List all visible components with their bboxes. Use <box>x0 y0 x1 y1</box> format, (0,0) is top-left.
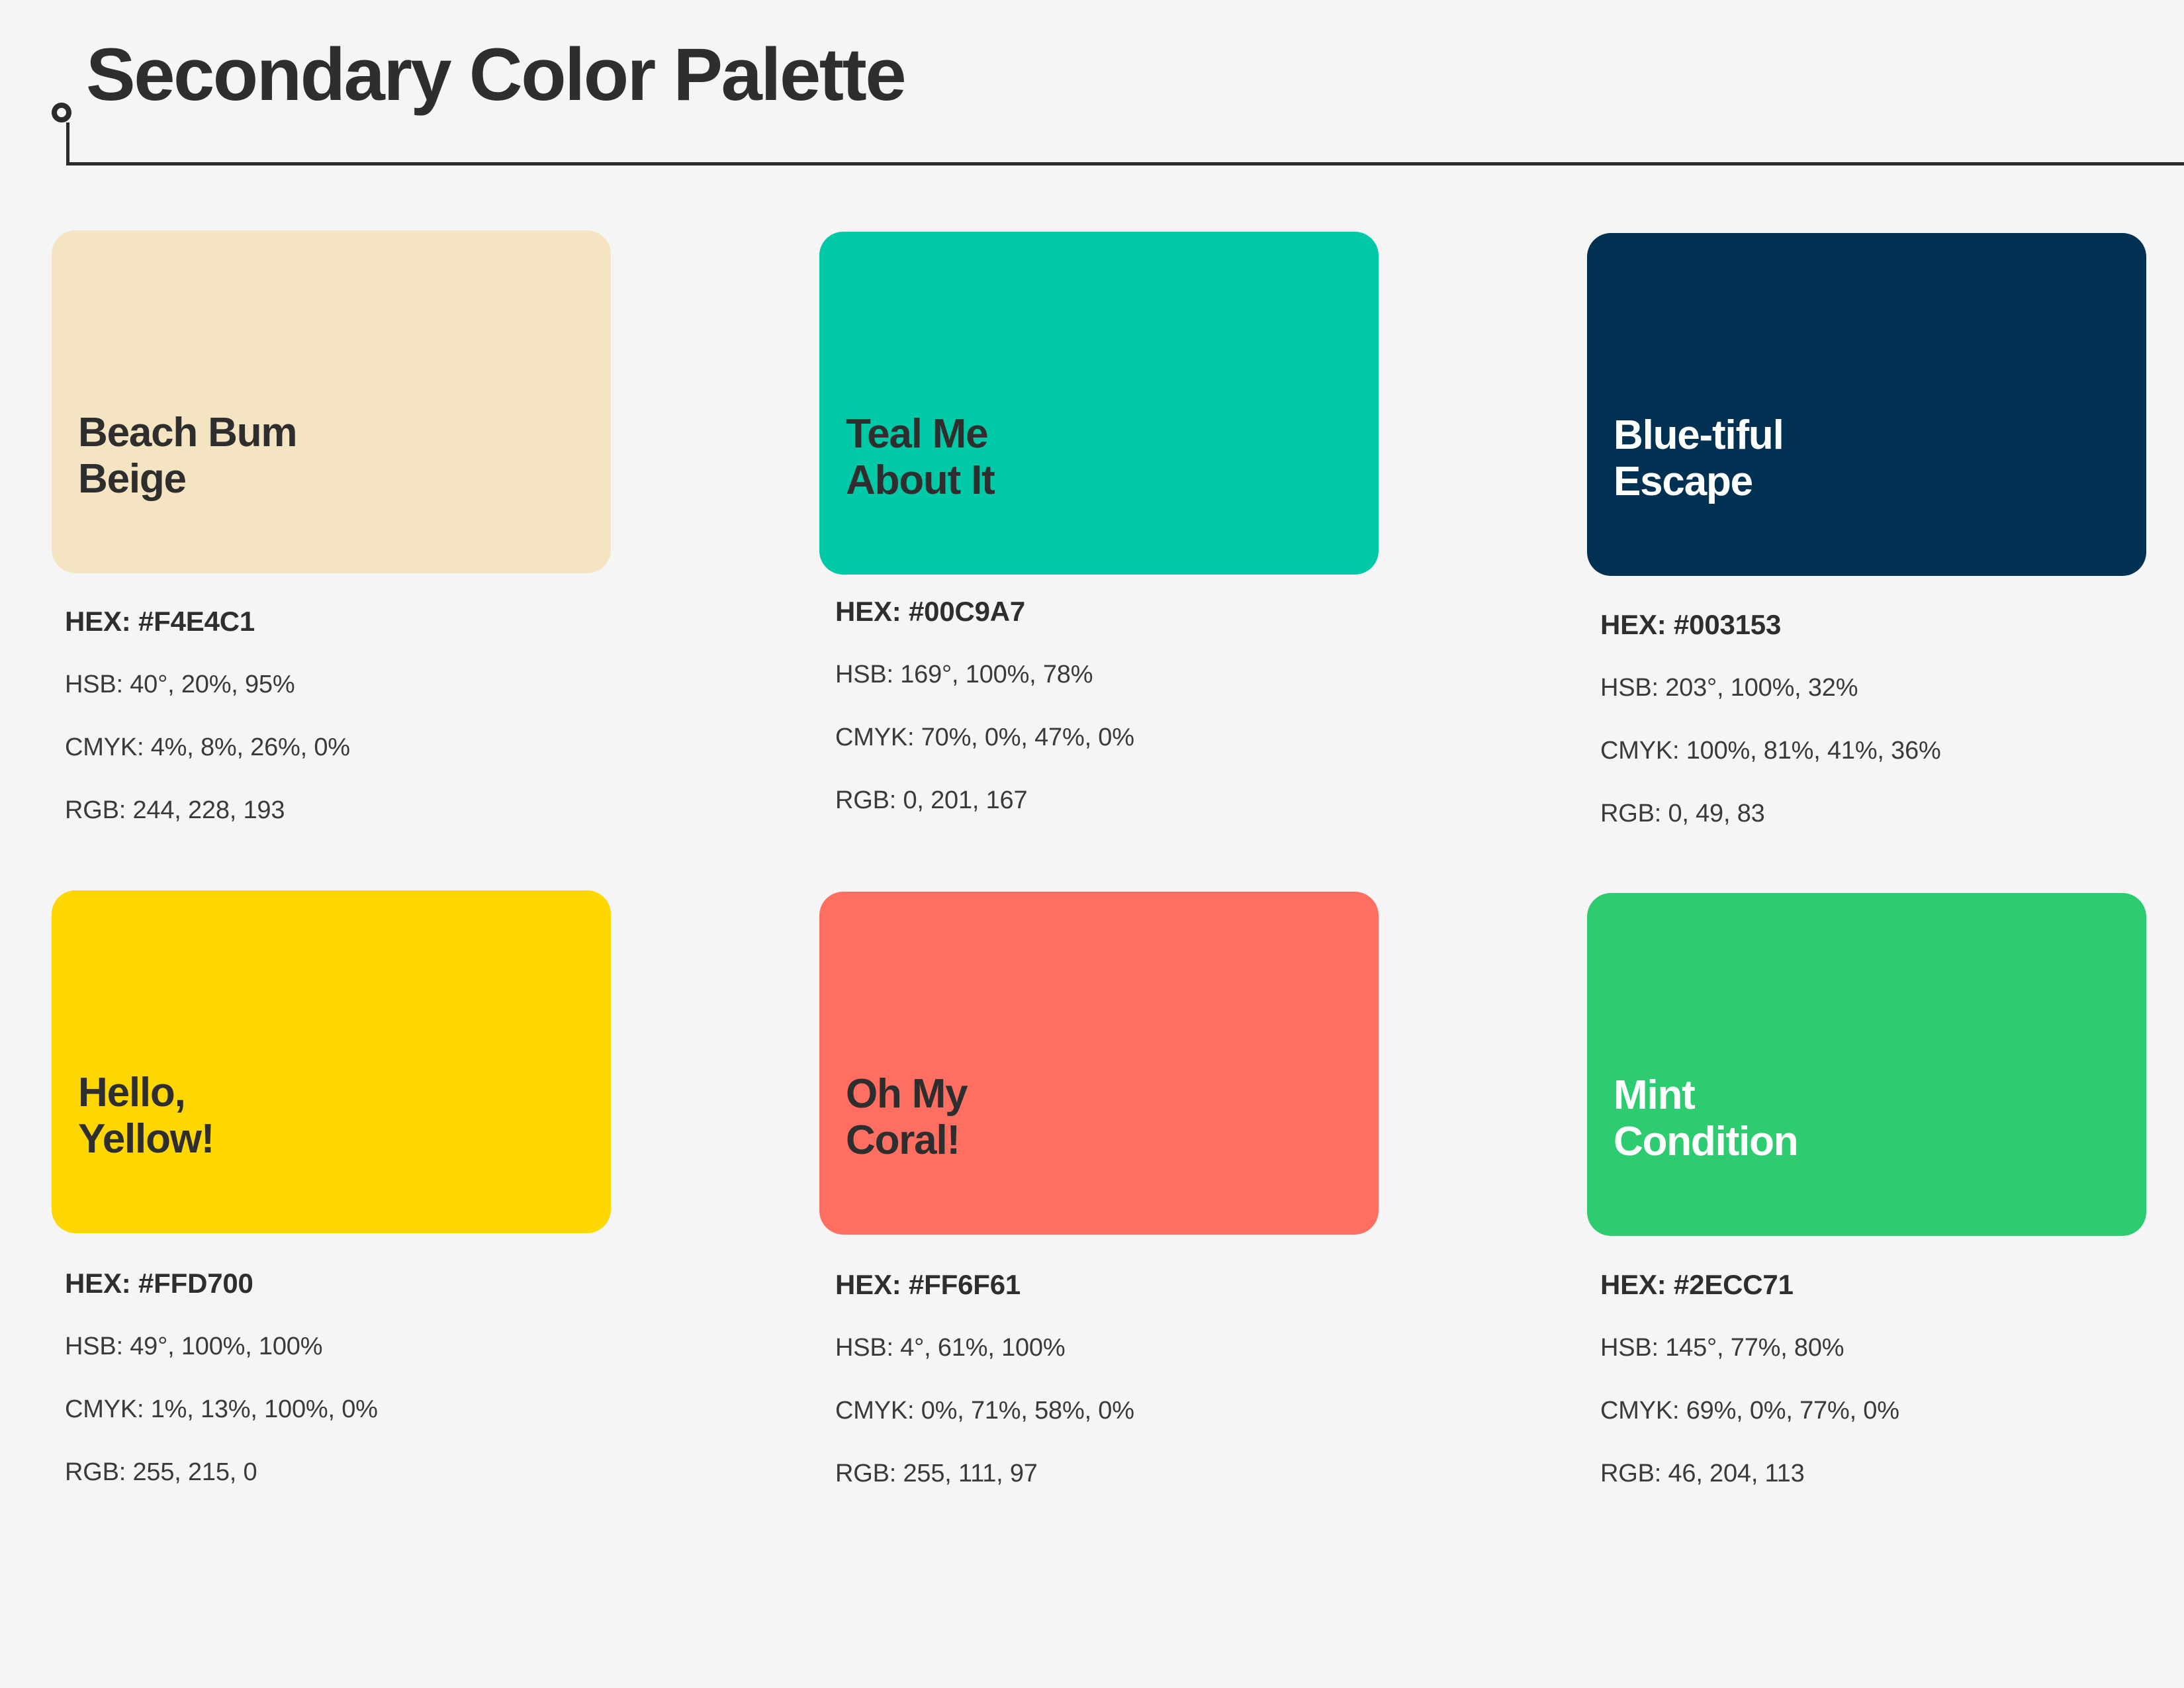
spec-rgb: RGB: 244, 228, 193 <box>65 796 660 825</box>
spec-cmyk: CMYK: 4%, 8%, 26%, 0% <box>65 733 660 762</box>
swatch-card[interactable]: Mint Condition <box>1587 893 2146 1236</box>
swatch-chip[interactable]: Teal Me About It <box>819 232 1379 575</box>
spec-cmyk: CMYK: 100%, 81%, 41%, 36% <box>1600 737 2184 765</box>
spec-hsb: HSB: 203°, 100%, 32% <box>1600 674 2184 702</box>
spec-cmyk: CMYK: 70%, 0%, 47%, 0% <box>835 724 1431 752</box>
spec-rgb: RGB: 0, 49, 83 <box>1600 800 2184 828</box>
palette-grid: Beach Bum Beige HEX: #F4E4C1 HSB: 40°, 2… <box>0 0 2184 1489</box>
spec-hex: HEX: #2ECC71 <box>1600 1269 2184 1301</box>
swatch-name: Beach Bum Beige <box>78 410 296 502</box>
spec-hsb: HSB: 49°, 100%, 100% <box>65 1333 660 1361</box>
spec-hex: HEX: #FF6F61 <box>835 1269 1431 1301</box>
swatch-card[interactable]: Oh My Coral! <box>819 892 1379 1235</box>
swatch-name: Mint Condition <box>1614 1072 1797 1164</box>
swatch-card[interactable]: Teal Me About It <box>819 232 1379 575</box>
swatch-chip[interactable]: Oh My Coral! <box>819 892 1379 1235</box>
footer: good vacation getaways copyright © Grand… <box>0 1542 2184 1688</box>
spec-hex: HEX: #F4E4C1 <box>65 606 660 637</box>
swatch-chip[interactable]: Mint Condition <box>1587 893 2146 1236</box>
swatch-card[interactable]: Blue-tiful Escape <box>1587 233 2146 576</box>
swatch-card[interactable]: Beach Bum Beige <box>52 230 611 573</box>
spec-hsb: HSB: 40°, 20%, 95% <box>65 671 660 699</box>
swatch-chip[interactable]: Beach Bum Beige <box>52 230 611 573</box>
spec-rgb: RGB: 255, 215, 0 <box>65 1458 660 1487</box>
spec-hsb: HSB: 145°, 77%, 80% <box>1600 1334 2184 1362</box>
spec-hex: HEX: #FFD700 <box>65 1268 660 1299</box>
swatch-card[interactable]: Hello, Yellow! <box>52 890 611 1233</box>
spec-rgb: RGB: 46, 204, 113 <box>1600 1460 2184 1488</box>
swatch-specs: HEX: #2ECC71 HSB: 145°, 77%, 80% CMYK: 6… <box>1600 1269 2184 1488</box>
swatch-name: Teal Me About It <box>846 411 995 503</box>
spec-rgb: RGB: 0, 201, 167 <box>835 786 1431 815</box>
swatch-name: Blue-tiful Escape <box>1614 412 1784 504</box>
spec-hex: HEX: #00C9A7 <box>835 596 1431 628</box>
swatch-chip[interactable]: Hello, Yellow! <box>52 890 611 1233</box>
swatch-name: Hello, Yellow! <box>78 1070 214 1162</box>
spec-cmyk: CMYK: 69%, 0%, 77%, 0% <box>1600 1397 2184 1425</box>
spec-hsb: HSB: 4°, 61%, 100% <box>835 1334 1431 1362</box>
spec-hex: HEX: #003153 <box>1600 609 2184 641</box>
spec-cmyk: CMYK: 0%, 71%, 58%, 0% <box>835 1397 1431 1425</box>
slide-canvas: Secondary Color Palette Beach Bum Beige … <box>0 0 2184 1688</box>
swatch-specs: HEX: #FFD700 HSB: 49°, 100%, 100% CMYK: … <box>65 1268 660 1487</box>
swatch-specs: HEX: #003153 HSB: 203°, 100%, 32% CMYK: … <box>1600 609 2184 828</box>
spec-hsb: HSB: 169°, 100%, 78% <box>835 661 1431 689</box>
swatch-chip[interactable]: Blue-tiful Escape <box>1587 233 2146 576</box>
spec-rgb: RGB: 255, 111, 97 <box>835 1460 1431 1488</box>
swatch-specs: HEX: #F4E4C1 HSB: 40°, 20%, 95% CMYK: 4%… <box>65 606 660 825</box>
swatch-specs: HEX: #00C9A7 HSB: 169°, 100%, 78% CMYK: … <box>835 596 1431 815</box>
spec-cmyk: CMYK: 1%, 13%, 100%, 0% <box>65 1395 660 1424</box>
swatch-name: Oh My Coral! <box>846 1071 967 1163</box>
swatch-specs: HEX: #FF6F61 HSB: 4°, 61%, 100% CMYK: 0%… <box>835 1269 1431 1488</box>
